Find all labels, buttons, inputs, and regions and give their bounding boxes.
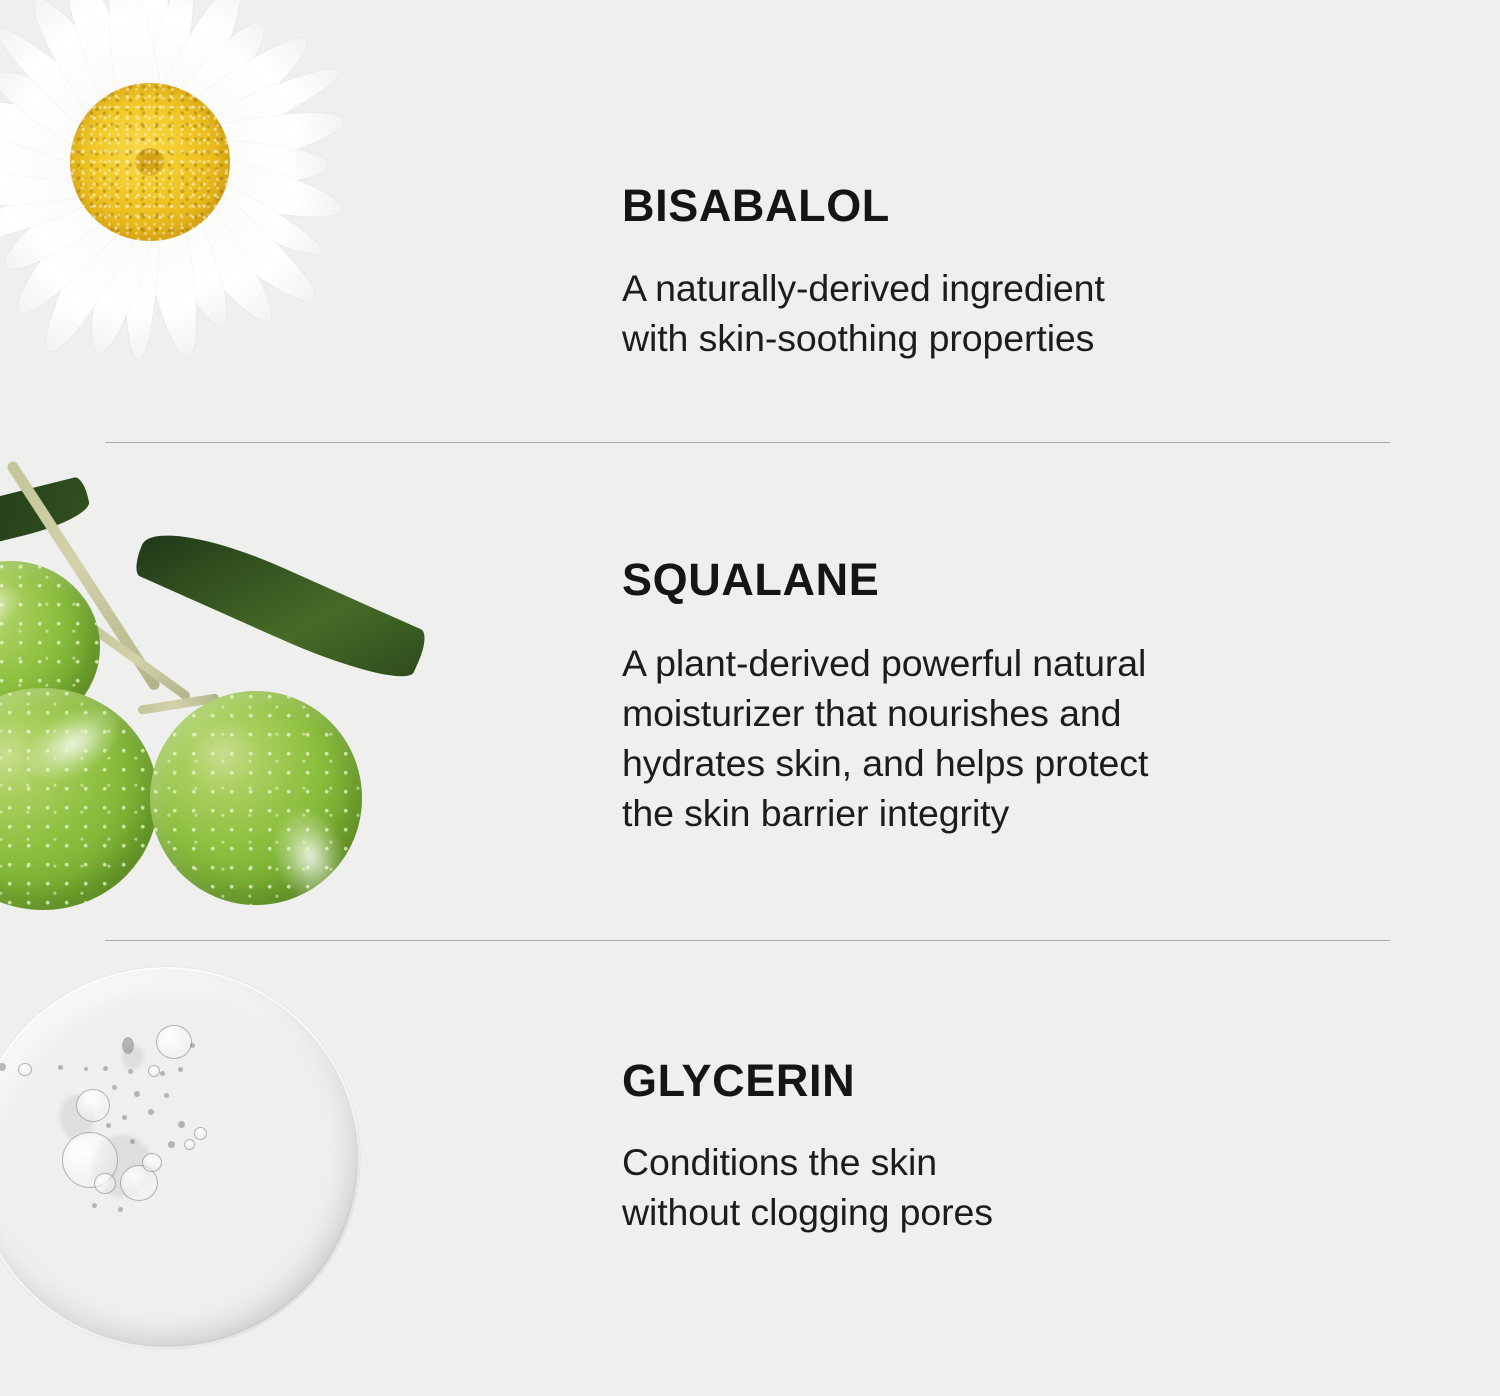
- gel-bubble: [148, 1065, 160, 1077]
- gel-dot: [148, 1109, 154, 1115]
- gel-dot: [128, 1069, 133, 1074]
- bisabalol-copy-block: BISABALOL A naturally-derived ingredient…: [622, 183, 1105, 363]
- section-bisabalol: BISABALOL A naturally-derived ingredient…: [0, 0, 1500, 442]
- gel-dot: [112, 1085, 117, 1090]
- section-glycerin: GLYCERIN Conditions the skin without clo…: [0, 941, 1500, 1396]
- gel-dot: [58, 1065, 63, 1070]
- gel-dot: [168, 1141, 175, 1148]
- gel-dot: [134, 1091, 140, 1097]
- clear-gel-droplet-image: [0, 941, 400, 1396]
- olive-highlight: [265, 803, 354, 905]
- section-squalane: SQUALANE A plant-derived powerful natura…: [0, 443, 1500, 940]
- gel-bubble: [184, 1139, 195, 1150]
- bisabalol-heading: BISABALOL: [622, 183, 1105, 228]
- gel-bubble: [94, 1173, 116, 1194]
- olive-fruit-left: [0, 688, 158, 910]
- gel-dot: [178, 1121, 185, 1128]
- squalane-copy-block: SQUALANE A plant-derived powerful natura…: [622, 557, 1148, 838]
- gel-droplet-rim: [0, 967, 360, 1349]
- glycerin-copy-block: GLYCERIN Conditions the skin without clo…: [622, 1058, 993, 1237]
- gel-dot: [178, 1067, 183, 1072]
- daisy-center-hub: [135, 148, 165, 176]
- gel-dot: [92, 1203, 97, 1208]
- gel-dot: [160, 1071, 165, 1076]
- olive-stem-branch: [89, 624, 191, 702]
- olive-leaf-main: [130, 512, 431, 694]
- gel-dot: [122, 1115, 127, 1120]
- gel-dot: [190, 1043, 195, 1048]
- glycerin-description: Conditions the skin without clogging por…: [622, 1137, 993, 1237]
- gel-dot: [106, 1123, 111, 1128]
- olive-fruit-right: [150, 691, 362, 905]
- gel-dot: [164, 1093, 169, 1098]
- gel-bubble: [18, 1063, 32, 1076]
- olive-highlight: [0, 575, 25, 641]
- gel-bubble: [156, 1025, 192, 1059]
- glycerin-heading: GLYCERIN: [622, 1058, 993, 1103]
- bisabalol-description: A naturally-derived ingredient with skin…: [622, 263, 1105, 363]
- gel-dot: [84, 1067, 88, 1071]
- gel-dot: [130, 1139, 135, 1144]
- gel-dot: [122, 1037, 134, 1054]
- daisy-graphic: [0, 0, 370, 382]
- gel-bubble: [194, 1127, 207, 1140]
- ingredient-benefits-page: BISABALOL A naturally-derived ingredient…: [0, 0, 1500, 1396]
- olive-highlight: [17, 695, 130, 792]
- squalane-description: A plant-derived powerful natural moistur…: [622, 638, 1148, 838]
- daisy-flower-image: [0, 0, 400, 435]
- gel-dot: [103, 1066, 108, 1071]
- gel-bubble: [76, 1089, 110, 1122]
- gel-droplet-graphic: [0, 967, 360, 1349]
- gel-bubble: [142, 1153, 162, 1172]
- squalane-heading: SQUALANE: [622, 557, 1148, 602]
- green-olives-image: [0, 443, 470, 933]
- daisy-center-disc: [70, 83, 230, 241]
- gel-dot: [118, 1207, 123, 1212]
